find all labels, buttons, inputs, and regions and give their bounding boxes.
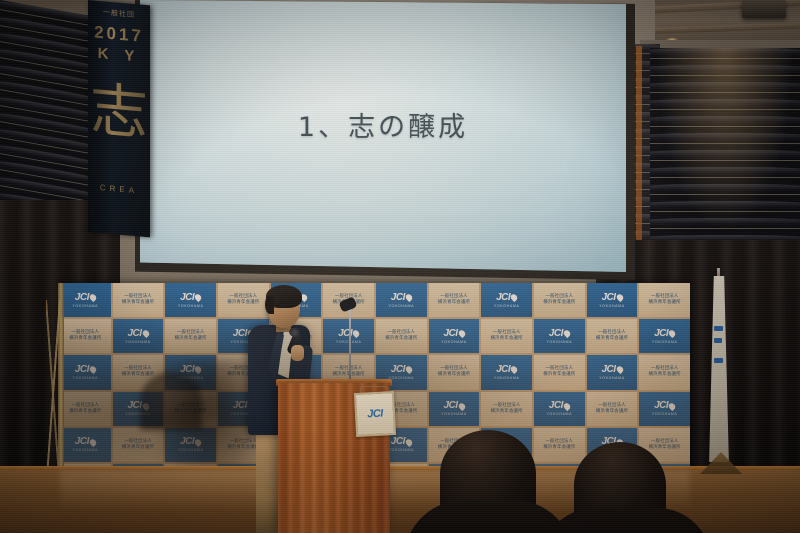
jci-chapter-text: YOKOHAMA [547,412,573,416]
org-name-line2: 横浜青年会議所 [122,300,154,306]
jci-chapter-text: YOKOHAMA [178,304,204,308]
jci-chapter-text: YOKOHAMA [389,376,415,380]
jci-logo-text: JCI [75,365,89,375]
location-pin-icon [352,329,361,338]
plaque-jci-text: JCI [367,408,383,421]
jci-logo-icon: JCI [127,329,148,339]
location-pin-icon [88,365,97,374]
backdrop-tile-jci: JCIYOKOHAMA [165,283,216,317]
jci-logo-text: JCI [180,293,194,303]
backdrop-tile-jci: JCIYOKOHAMA [534,392,585,426]
projection-screen: 1、志の醸成 [140,0,626,272]
louver-slat [650,65,800,75]
banner-shading [88,0,150,237]
jci-chapter-text: YOKOHAMA [652,340,678,344]
org-name-line2: 横浜青年会議所 [438,372,470,378]
flag-mark [714,338,722,343]
speaker-hair-side [265,296,274,314]
org-name-line2: 横浜青年会議所 [69,409,101,415]
slide-title-text: 1、志の醸成 [140,105,626,144]
jci-logo-text: JCI [233,329,247,339]
jci-logo-text: JCI [391,437,405,447]
jci-logo-text: JCI [654,401,668,411]
jci-logo-text: JCI [75,437,89,447]
jci-chapter-text: YOKOHAMA [441,412,467,416]
ceiling-speaker [742,0,786,18]
backdrop-tile-org: 一般社団法人横浜青年会議所 [481,319,532,353]
jci-logo-icon: JCI [75,365,96,375]
org-name-line2: 横浜青年会議所 [596,336,628,342]
jci-chapter-text: YOKOHAMA [599,304,625,308]
jci-logo-icon: JCI [549,329,570,339]
location-pin-icon [562,329,571,338]
location-pin-icon [510,365,519,374]
backdrop-tile-org: 一般社団法人横浜青年会議所 [60,392,111,426]
org-name-line2: 横浜青年会議所 [438,300,470,306]
backdrop-tile-org: 一般社団法人横浜青年会議所 [639,283,690,317]
jci-logo-icon: JCI [391,437,412,447]
backdrop-tile-jci: JCIYOKOHAMA [587,355,638,389]
jci-chapter-text: YOKOHAMA [389,304,415,308]
jci-logo-text: JCI [443,329,457,339]
flag-mark [714,358,723,363]
jci-logo-icon: JCI [549,401,570,411]
louver-slat [650,167,800,177]
jci-logo-text: JCI [75,293,89,303]
jci-logo-icon: JCI [496,365,517,375]
microphone-stand-pole [349,306,351,386]
backdrop-tile-org: 一般社団法人横浜青年会議所 [481,392,532,426]
jci-logo-icon: JCI [391,365,412,375]
backdrop-tile-jci: JCIYOKOHAMA [481,355,532,389]
backdrop-tile-jci: JCIYOKOHAMA [376,283,427,317]
louver-slat [650,201,800,211]
jci-logo-text: JCI [391,365,405,375]
conference-hall-photo: 1、志の醸成 一般社団 2017 K Y 志 CREA JCIYOKOHAMA一… [0,0,800,533]
jci-logo-text: JCI [601,365,615,375]
jci-logo-icon: JCI [391,293,412,303]
org-name-line2: 横浜青年会議所 [491,409,523,415]
louver-slat [650,99,800,109]
org-name-line2: 横浜青年会議所 [596,409,628,415]
jci-logo-text: JCI [127,329,141,339]
location-pin-icon [615,365,624,374]
location-pin-icon [615,293,624,302]
jci-chapter-text: YOKOHAMA [125,340,151,344]
backdrop-tile-org: 一般社団法人横浜青年会議所 [534,428,585,462]
jci-logo-icon: JCI [601,293,622,303]
louver-slat [650,82,800,92]
org-name-line2: 横浜青年会議所 [649,372,681,378]
location-pin-icon [668,401,677,410]
location-pin-icon [404,293,413,302]
backdrop-tile-org: 一般社団法人横浜青年会議所 [429,355,480,389]
location-pin-icon [457,401,466,410]
backdrop-tile-org: 一般社団法人横浜青年会議所 [376,319,427,353]
backdrop-tile-jci: JCIYOKOHAMA [113,319,164,353]
jci-chapter-text: YOKOHAMA [73,304,99,308]
backdrop-tile-jci: JCIYOKOHAMA [587,283,638,317]
backdrop-tile-org: 一般社団法人横浜青年会議所 [534,283,585,317]
backdrop-tile-jci: JCIYOKOHAMA [60,355,111,389]
jci-chapter-text: YOKOHAMA [599,376,625,380]
speaker-hand [291,345,304,361]
jci-logo-icon: JCI [75,293,96,303]
location-pin-icon [562,401,571,410]
location-pin-icon [510,293,519,302]
jci-logo-text: JCI [391,293,405,303]
backdrop-tile-org: 一般社団法人横浜青年会議所 [165,319,216,353]
flag-mark [714,326,723,331]
jci-logo-text: JCI [601,293,615,303]
backdrop-tile-org: 一般社団法人横浜青年会議所 [534,355,585,389]
backdrop-tile-jci: JCIYOKOHAMA [534,319,585,353]
backdrop-tile-jci: JCIYOKOHAMA [639,392,690,426]
backdrop-tile-jci: JCIYOKOHAMA [60,428,111,462]
backdrop-tile-org: 一般社団法人横浜青年会議所 [587,319,638,353]
jci-logo-icon: JCI [443,329,464,339]
jci-chapter-text: YOKOHAMA [73,448,99,452]
org-name-line2: 横浜青年会議所 [543,445,575,451]
org-name-line2: 横浜青年会議所 [491,336,523,342]
louver-slat [650,48,800,58]
louver-slat [650,184,800,194]
jci-chapter-text: YOKOHAMA [652,412,678,416]
org-name-line2: 横浜青年会議所 [175,336,207,342]
jci-logo-icon: JCI [601,365,622,375]
backdrop-tile-org: 一般社団法人横浜青年会議所 [218,283,269,317]
location-pin-icon [457,329,466,338]
jci-logo-text: JCI [496,365,510,375]
org-name-line2: 横浜青年会議所 [649,300,681,306]
louver-slat [650,133,800,143]
backdrop-tile-jci: JCIYOKOHAMA [60,283,111,317]
location-pin-icon [668,329,677,338]
location-pin-icon [404,438,413,447]
backdrop-tile-jci: JCIYOKOHAMA [429,319,480,353]
jci-logo-icon: JCI [443,401,464,411]
backdrop-tile-org: 一般社団法人横浜青年会議所 [639,355,690,389]
jci-logo-icon: JCI [654,401,675,411]
backdrop-tile-org: 一般社団法人横浜青年会議所 [587,392,638,426]
jci-logo-icon: JCI [654,329,675,339]
louver-slat [650,218,800,228]
jci-chapter-text: YOKOHAMA [494,304,520,308]
org-name-line2: 横浜青年会議所 [649,445,681,451]
location-pin-icon [141,329,150,338]
location-pin-icon [194,293,203,302]
location-pin-icon [88,293,97,302]
backdrop-support-frame [46,300,60,490]
audience-member-blurred [140,372,202,430]
backdrop-tile-org: 一般社団法人横浜青年会議所 [113,283,164,317]
jci-chapter-text: YOKOHAMA [389,448,415,452]
org-name-line2: 横浜青年会議所 [385,336,417,342]
jci-logo-icon: JCI [75,437,96,447]
podium-jci-plaque: JCI [354,391,396,437]
backdrop-tile-org: 一般社団法人横浜青年会議所 [429,283,480,317]
jci-logo-text: JCI [443,401,457,411]
backdrop-tile-jci: JCIYOKOHAMA [481,283,532,317]
jci-logo-text: JCI [549,329,563,339]
org-name-line2: 横浜青年会議所 [543,372,575,378]
location-pin-icon [404,365,413,374]
jci-chapter-text: YOKOHAMA [494,376,520,380]
location-pin-icon [88,438,97,447]
jci-logo-text: JCI [549,401,563,411]
jci-logo-text: JCI [496,293,510,303]
jci-logo-icon: JCI [496,293,517,303]
jci-chapter-text: YOKOHAMA [441,340,467,344]
org-name-line2: 横浜青年会議所 [69,336,101,342]
event-side-banner: 一般社団 2017 K Y 志 CREA [88,0,150,237]
louver-slat [650,116,800,126]
jci-logo-icon: JCI [180,293,201,303]
backdrop-tile-jci: JCIYOKOHAMA [639,319,690,353]
backdrop-tile-org: 一般社団法人横浜青年会議所 [60,319,111,353]
louver-slat [650,150,800,160]
backdrop-tile-jci: JCIYOKOHAMA [429,392,480,426]
org-name-line2: 横浜青年会議所 [227,300,259,306]
jci-chapter-text: YOKOHAMA [73,376,99,380]
jci-logo-text: JCI [654,329,668,339]
org-name-line2: 横浜青年会議所 [543,300,575,306]
jci-chapter-text: YOKOHAMA [547,340,573,344]
